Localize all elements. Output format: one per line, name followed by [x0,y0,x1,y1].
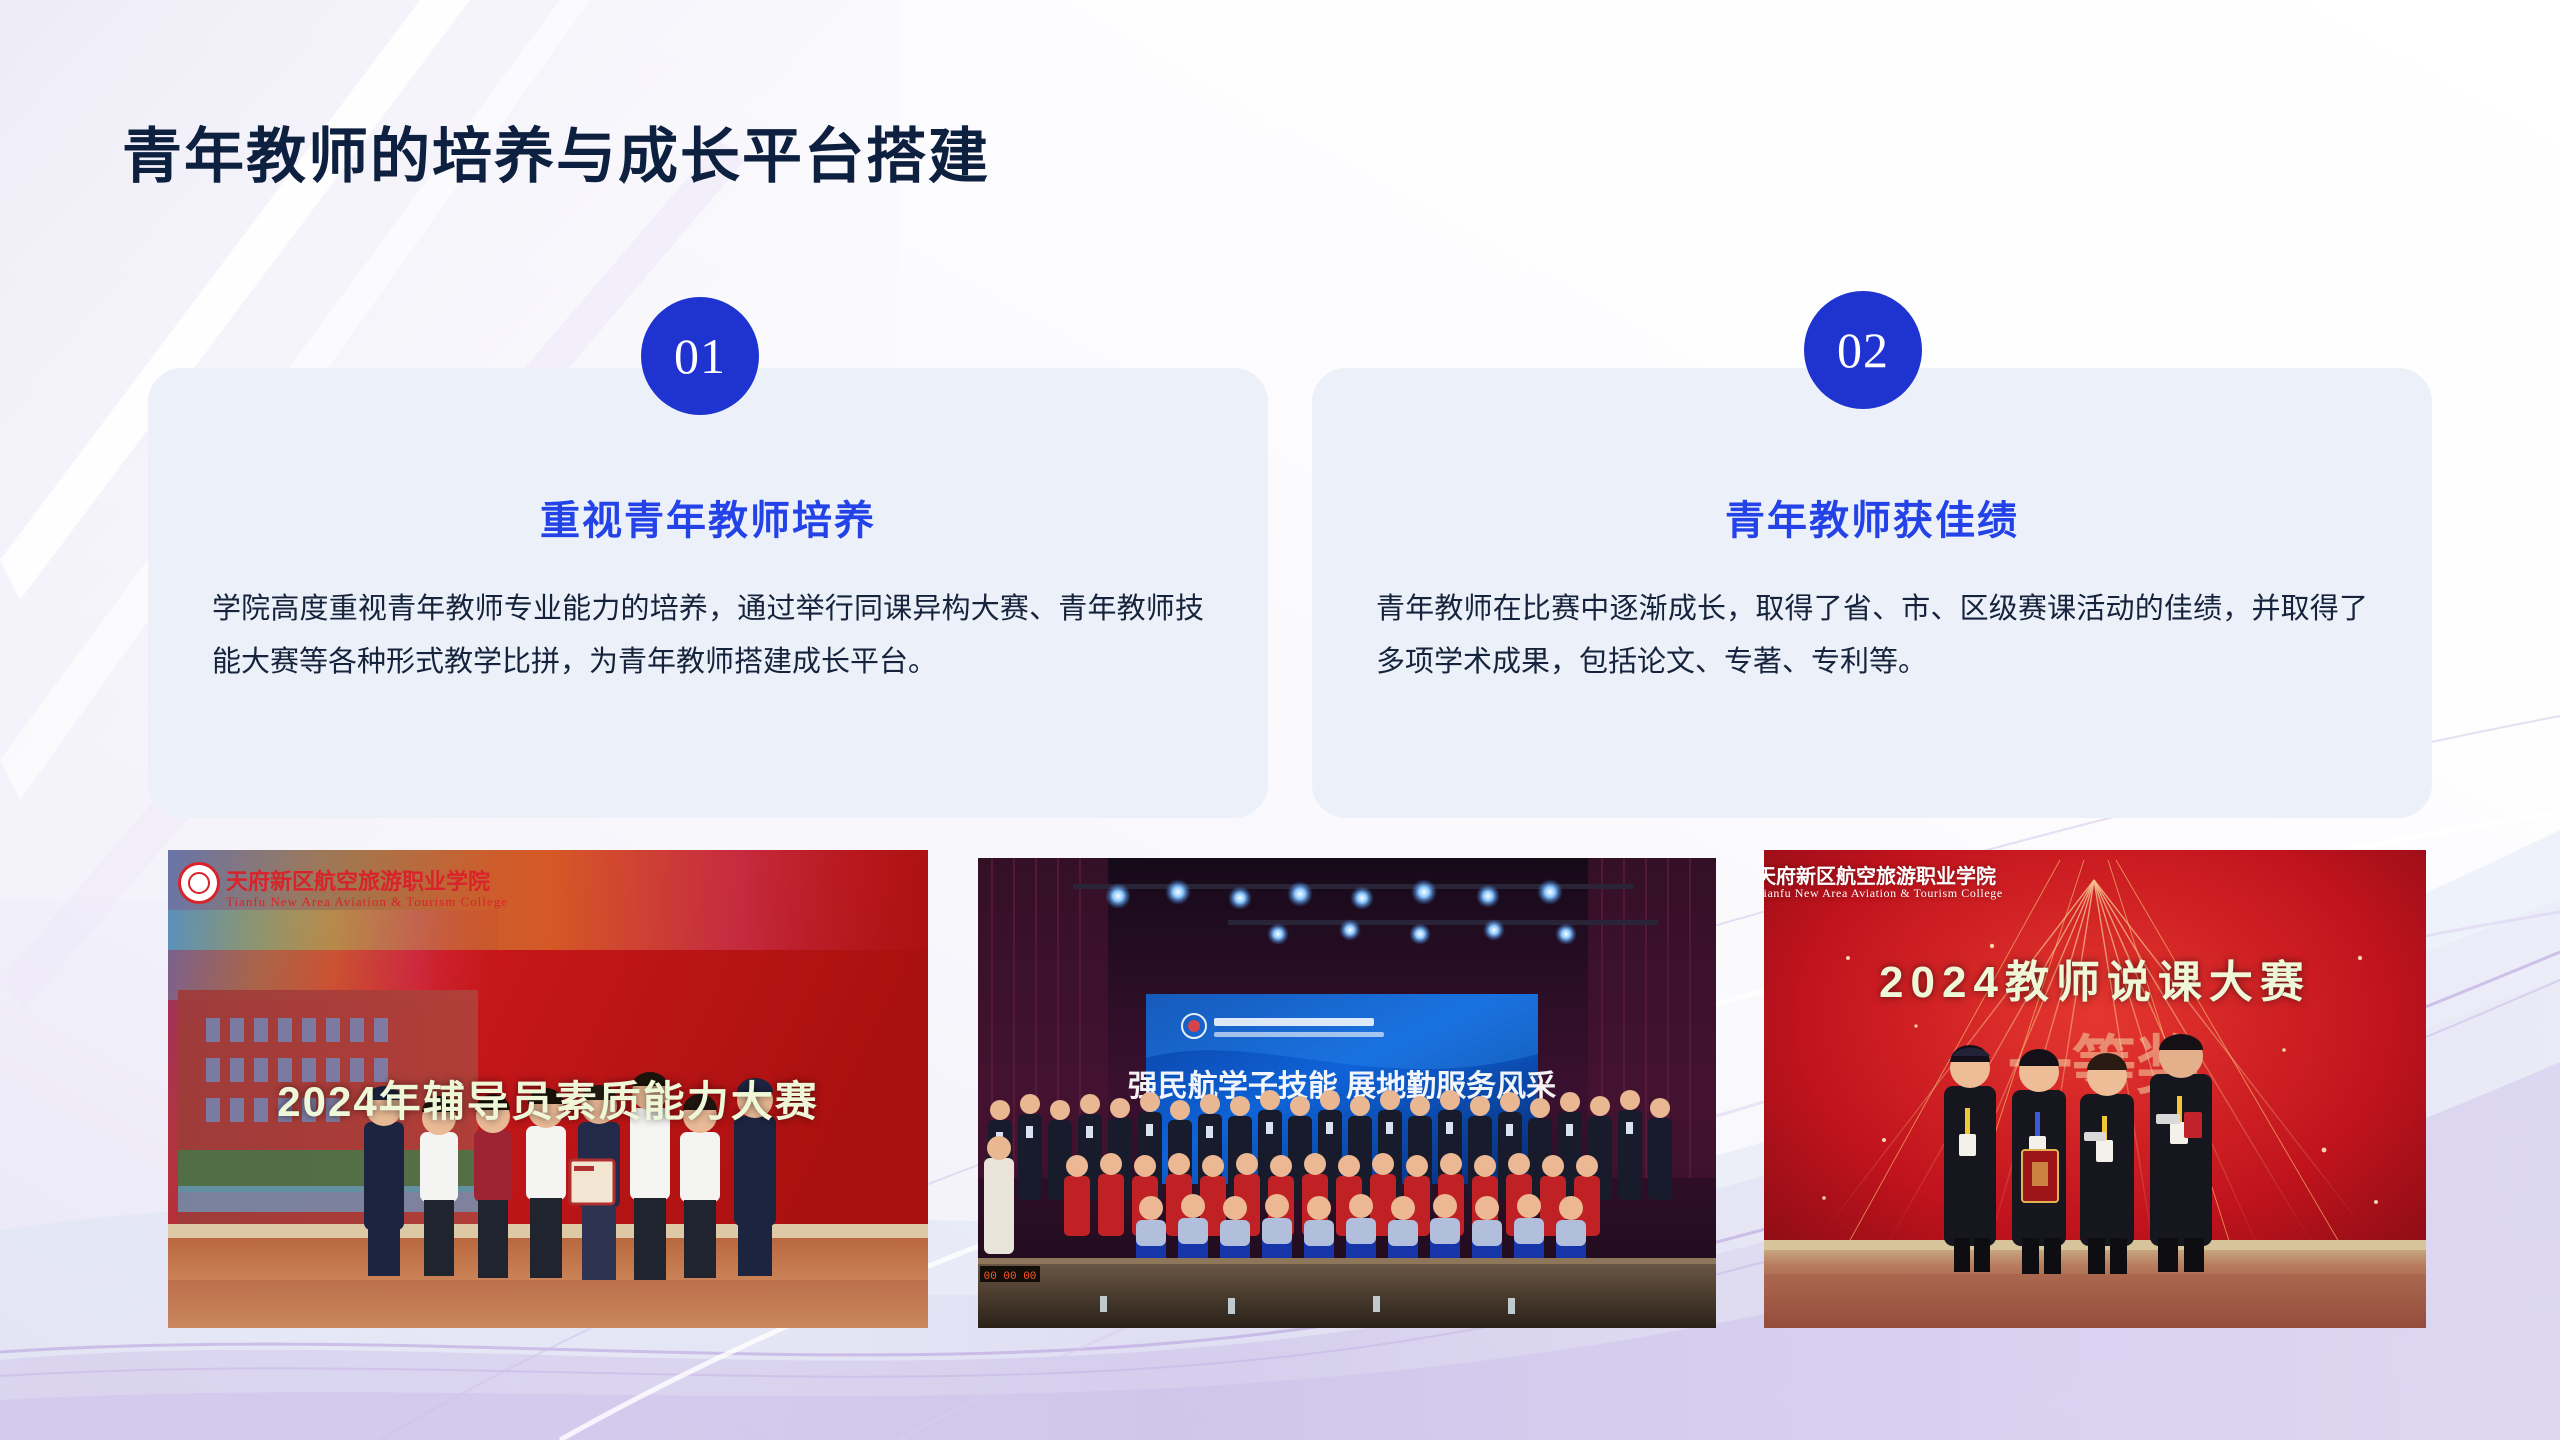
svg-text:00 00 00: 00 00 00 [984,1271,1037,1283]
step-badge-02: 02 [1804,291,1922,409]
page-title: 青年教师的培养与成长平台搭建 [122,108,990,195]
content-card-2: 青年教师获佳绩 青年教师在比赛中逐渐成长，取得了省、市、区级赛课活动的佳绩，并取… [1312,368,2432,818]
teaching-contest-award-photo: 一等奖 [1764,850,2426,1328]
college-logo-cn: 天府新区航空旅游职业学院 [1764,860,1996,889]
card-heading-2: 青年教师获佳绩 [1312,488,2432,546]
content-card-1: 重视青年教师培养 学院高度重视青年教师专业能力的培养，通过举行同课异构大赛、青年… [148,368,1268,818]
card-body-1: 学院高度重视青年教师专业能力的培养，通过举行同课异构大赛、青年教师技能大赛等各种… [212,583,1204,689]
svg-text:强民航学子技能 展地勤服务风采: 强民航学子技能 展地勤服务风采 [1128,1069,1556,1103]
card-heading-1: 重视青年教师培养 [148,488,1268,546]
step-badge-01: 01 [641,297,759,415]
card-body-2: 青年教师在比赛中逐渐成长，取得了省、市、区级赛课活动的佳绩，并取得了多项学术成果… [1376,583,2368,689]
counselor-competition-photo: 天府新区航空旅游职业学院 Tianfu New Area Aviation & … [168,850,928,1328]
college-logo-cn: 天府新区航空旅游职业学院 [226,864,490,896]
college-logo-en: Tianfu New Area Aviation & Tourism Colle… [1764,886,2003,901]
college-seal-icon [178,862,220,904]
college-logo-en: Tianfu New Area Aviation & Tourism Colle… [226,894,508,910]
group-stage-photo: 强民航学子技能 展地勤服务风采 [978,858,1716,1328]
